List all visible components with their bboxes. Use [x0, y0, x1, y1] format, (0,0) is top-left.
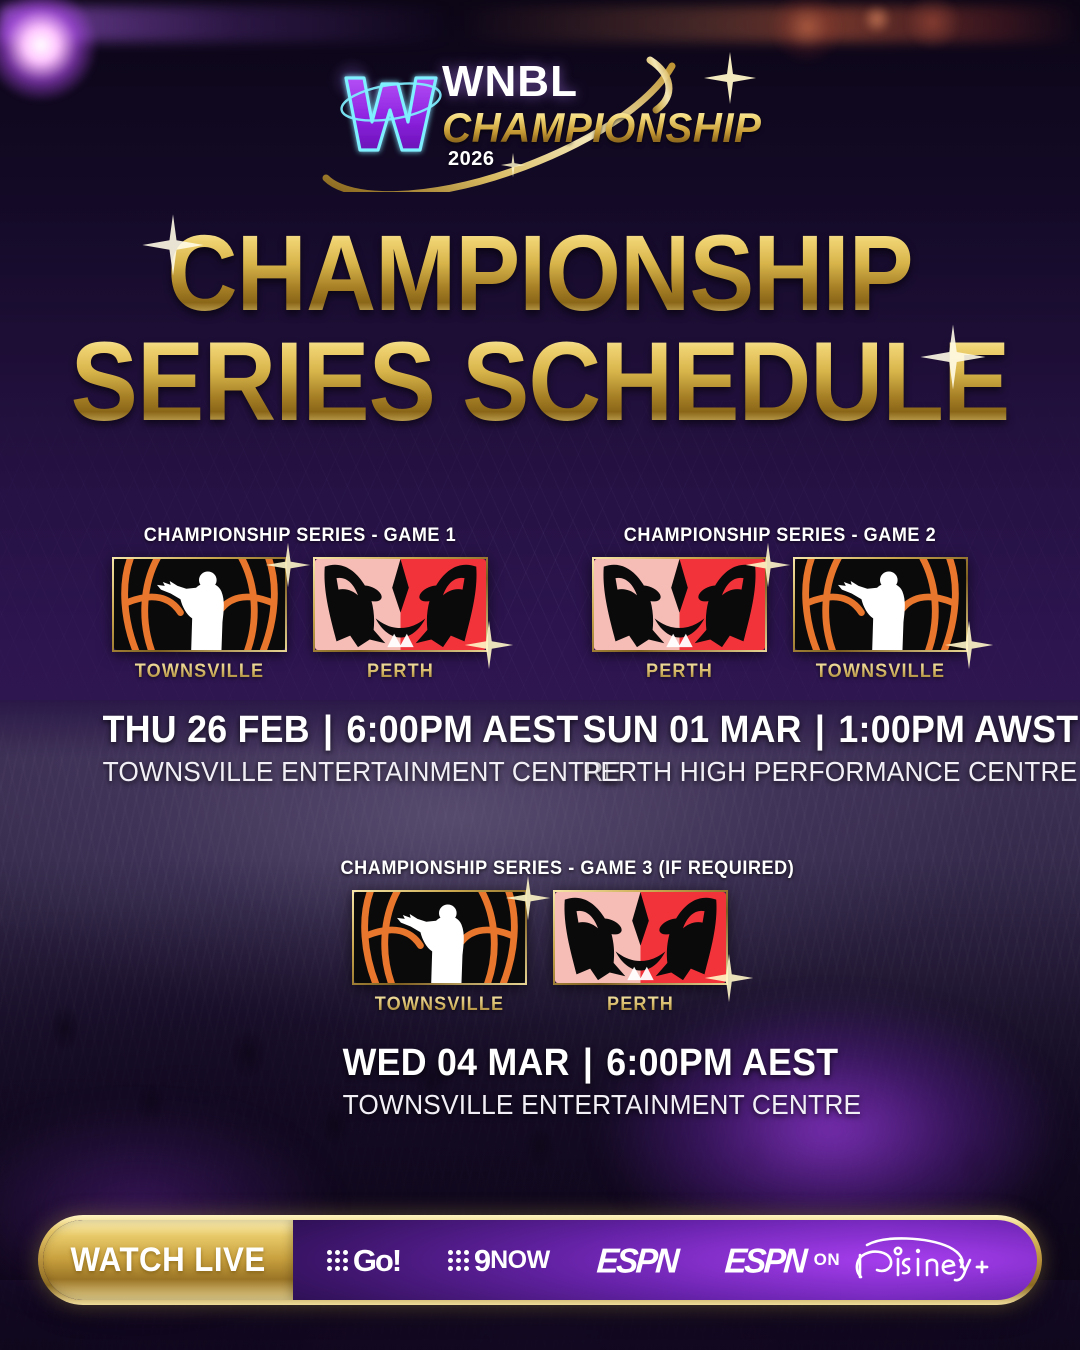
game-1-datetime: THU 26 FEB|6:00PM AEST	[103, 709, 498, 752]
wnbl-championship-lockup: WNBL CHAMPIONSHIP 2026	[0, 56, 1080, 186]
game-1-team-away[interactable]: PERTH	[313, 557, 488, 683]
game-3-matchup: TOWNSVILLE	[330, 890, 750, 1016]
game-1-separator: |	[310, 709, 347, 751]
game-1-venue: TOWNSVILLE ENTERTAINMENT CENTRE	[103, 756, 498, 788]
broadcaster-logos: Go! 9 NOW ESPN ESPN ON	[293, 1237, 1037, 1283]
event-name: CHAMPIONSHIP	[442, 106, 761, 150]
game-card-2: CHAMPIONSHIP SERIES - GAME 2	[570, 525, 990, 788]
townsville-fire-crest-icon	[352, 890, 527, 985]
game-2-label: CHAMPIONSHIP SERIES - GAME 2	[581, 525, 980, 547]
game-3-time: 6:00PM AEST	[606, 1042, 838, 1084]
headline-line-1: CHAMPIONSHIP	[54, 222, 1026, 325]
broadcaster-espn-on-disney-plus[interactable]: ESPN ON	[725, 1237, 989, 1283]
townsville-fire-crest-icon	[793, 557, 968, 652]
perth-lynx-crest-icon	[592, 557, 767, 652]
game-3-team-home[interactable]: TOWNSVILLE	[352, 890, 527, 1016]
schedule-row-1: CHAMPIONSHIP SERIES - GAME 1	[0, 525, 1080, 788]
game-card-3: CHAMPIONSHIP SERIES - GAME 3 (IF REQUIRE…	[330, 858, 750, 1121]
perth-lynx-crest-icon	[553, 890, 728, 985]
game-2-venue: PERTH HIGH PERFORMANCE CENTRE	[583, 756, 978, 788]
nine-go-label: Go!	[353, 1245, 400, 1276]
game-3-date: WED 04 MAR	[343, 1042, 570, 1084]
game-2-team-home[interactable]: PERTH	[592, 557, 767, 683]
poster-root: WNBL CHAMPIONSHIP 2026 CHAMPIONSHIP SERI…	[0, 0, 1080, 1350]
broadcaster-nine-go[interactable]: Go!	[327, 1245, 400, 1276]
on-conjunction: ON	[814, 1250, 841, 1270]
game-3-datetime: WED 04 MAR|6:00PM AEST	[343, 1042, 738, 1085]
espn-wordmark: ESPN	[724, 1243, 806, 1278]
nine-dot-grid-icon	[448, 1250, 469, 1271]
broadcaster-espn[interactable]: ESPN	[597, 1244, 677, 1277]
game-2-matchup: PERTH	[570, 557, 990, 683]
schedule-row-2: CHAMPIONSHIP SERIES - GAME 3 (IF REQUIRE…	[0, 858, 1080, 1121]
game-card-1: CHAMPIONSHIP SERIES - GAME 1	[90, 525, 510, 788]
nine-dot-grid-icon	[327, 1250, 348, 1271]
game-2-team-away-name: TOWNSVILLE	[797, 661, 963, 683]
game-2-datetime: SUN 01 MAR|1:00PM AWST	[583, 709, 978, 752]
game-2-time: 1:00PM AWST	[838, 709, 1078, 751]
broadcaster-nine-now[interactable]: 9 NOW	[448, 1245, 550, 1276]
game-2-team-home-name: PERTH	[596, 661, 762, 683]
nine-now-label: NOW	[490, 1246, 550, 1275]
game-1-team-home[interactable]: TOWNSVILLE	[112, 557, 287, 683]
event-year: 2026	[448, 148, 775, 171]
disney-plus-logo-icon	[849, 1237, 989, 1283]
game-2-team-away[interactable]: TOWNSVILLE	[793, 557, 968, 683]
disney-plus-wordmark	[849, 1237, 989, 1283]
game-1-time: 6:00PM AEST	[346, 709, 578, 751]
espn-wordmark: ESPN	[596, 1243, 678, 1278]
game-1-team-away-name: PERTH	[317, 661, 483, 683]
game-1-matchup: TOWNSVILLE	[90, 557, 510, 683]
townsville-fire-crest-icon	[112, 557, 287, 652]
game-3-separator: |	[570, 1042, 607, 1084]
game-1-date: THU 26 FEB	[103, 709, 310, 751]
headline-line-2: SERIES SCHEDULE	[54, 329, 1026, 435]
perth-lynx-crest-icon	[313, 557, 488, 652]
game-2-date: SUN 01 MAR	[583, 709, 802, 751]
game-1-label: CHAMPIONSHIP SERIES - GAME 1	[101, 525, 500, 547]
game-3-venue: TOWNSVILLE ENTERTAINMENT CENTRE	[343, 1089, 738, 1121]
watch-live-button[interactable]: WATCH LIVE	[43, 1220, 293, 1300]
game-3-label: CHAMPIONSHIP SERIES - GAME 3 (IF REQUIRE…	[341, 858, 740, 880]
schedule-section: CHAMPIONSHIP SERIES - GAME 1	[0, 525, 1080, 1121]
game-2-separator: |	[802, 709, 839, 751]
game-1-team-home-name: TOWNSVILLE	[116, 661, 282, 683]
watch-live-label: WATCH LIVE	[70, 1241, 265, 1280]
game-3-team-away[interactable]: PERTH	[553, 890, 728, 1016]
nine-now-numeral: 9	[474, 1245, 490, 1276]
wnbl-w-mark-icon	[338, 62, 446, 158]
page-title: CHAMPIONSHIP SERIES SCHEDULE	[0, 222, 1080, 435]
league-name: WNBL	[442, 60, 775, 104]
game-3-team-home-name: TOWNSVILLE	[356, 994, 522, 1016]
watch-live-bar: WATCH LIVE Go! 9 NOW	[38, 1215, 1042, 1305]
game-3-team-away-name: PERTH	[557, 994, 723, 1016]
